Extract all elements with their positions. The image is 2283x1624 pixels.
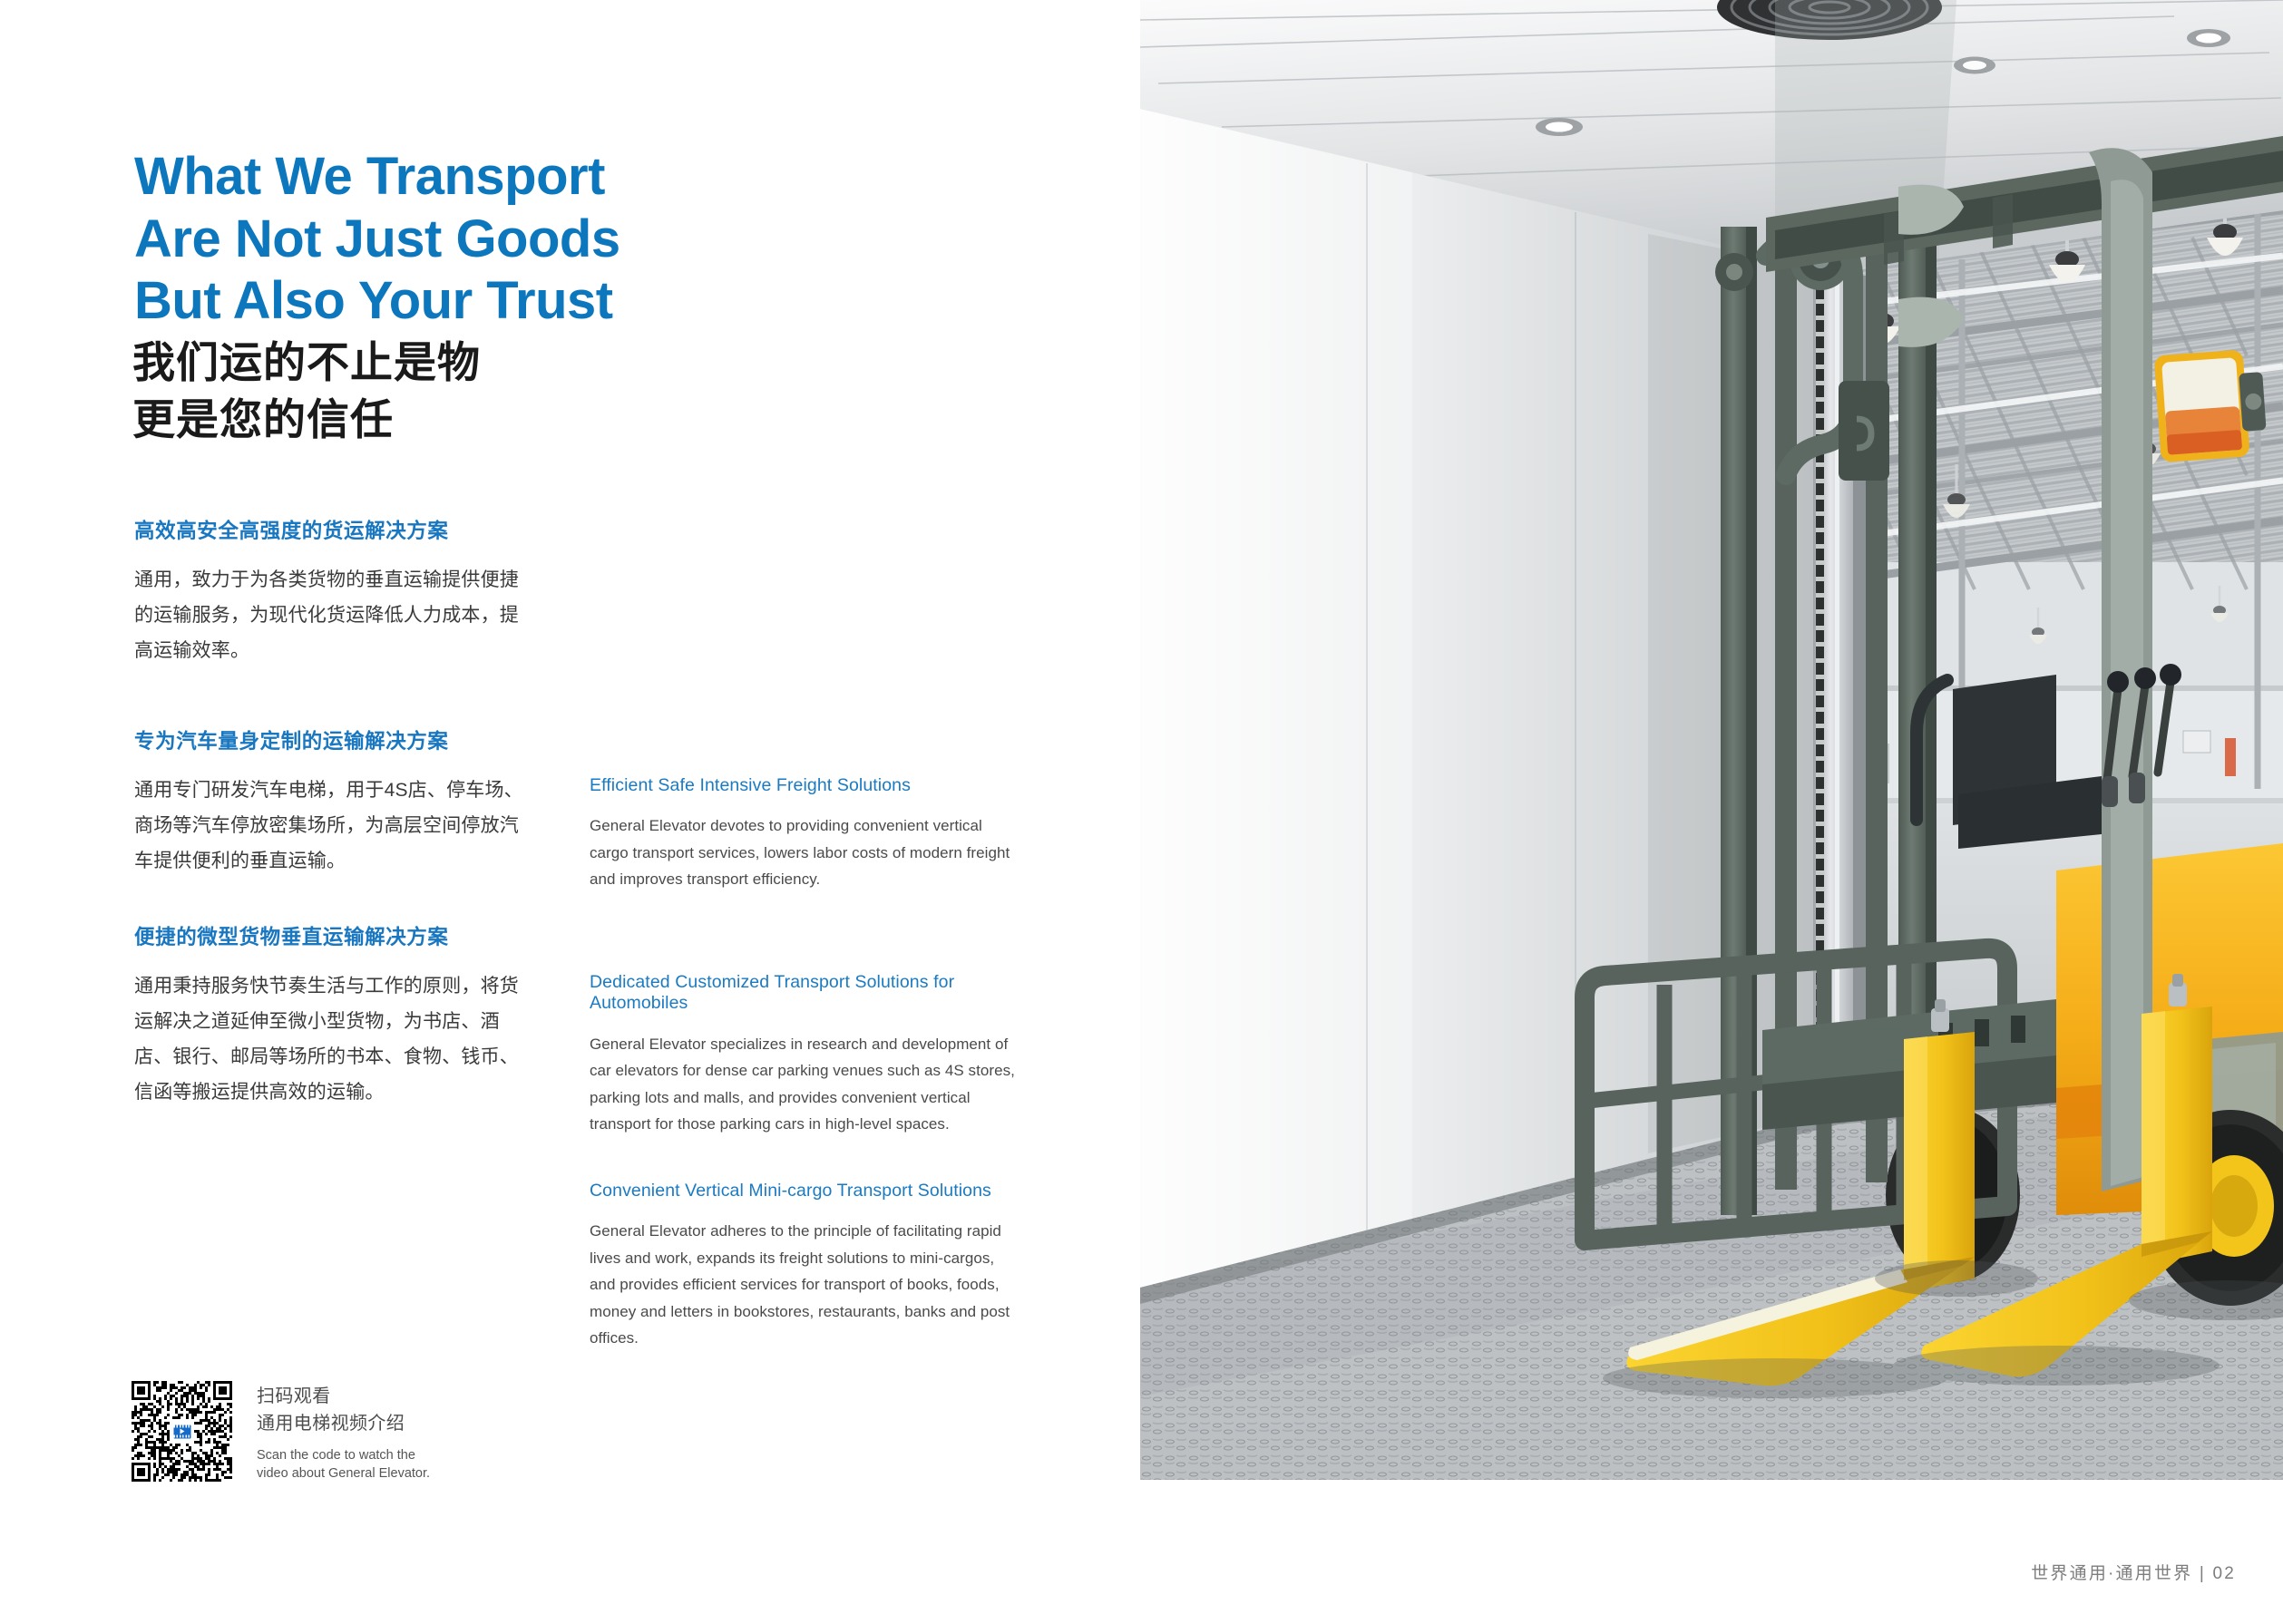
section-heading-english: Efficient Safe Intensive Freight Solutio… bbox=[590, 775, 1025, 796]
page-headline-chinese: 我们运的不止是物 更是您的信任 bbox=[132, 335, 481, 448]
section-heading-chinese: 便捷的微型货物垂直运输解决方案 bbox=[134, 925, 561, 949]
left-text-page: What We Transport Are Not Just Goods But… bbox=[0, 0, 1140, 1624]
section-english-freight: Efficient Safe Intensive Freight Solutio… bbox=[590, 775, 1025, 893]
section-heading-english: Dedicated Customized Transport Solutions… bbox=[590, 972, 1025, 1015]
video-play-icon bbox=[171, 1420, 193, 1443]
qr-caption-chinese: 扫码观看 通用电梯视频介绍 bbox=[257, 1383, 430, 1438]
section-english-minicargo: Convenient Vertical Mini-cargo Transport… bbox=[590, 1181, 1025, 1351]
section-heading-chinese: 高效高安全高强度的货运解决方案 bbox=[134, 519, 561, 543]
section-body-chinese: 通用秉持服务快节奏生活与工作的原则，将货运解决之道延伸至微小型货物，为书店、酒店… bbox=[134, 968, 538, 1110]
section-body-english: General Elevator devotes to providing co… bbox=[590, 812, 1016, 892]
section-body-english: General Elevator specializes in research… bbox=[590, 1031, 1016, 1138]
section-body-chinese: 通用，致力于为各类货物的垂直运输提供便捷的运输服务，为现代化货运降低人力成本，提… bbox=[134, 562, 538, 668]
qr-caption: 扫码观看 通用电梯视频介绍 Scan the code to watch the… bbox=[257, 1381, 430, 1483]
section-heading-chinese: 专为汽车量身定制的运输解决方案 bbox=[134, 729, 561, 754]
section-english-automobile: Dedicated Customized Transport Solutions… bbox=[590, 972, 1025, 1137]
section-body-chinese: 通用专门研发汽车电梯，用于4S店、停车场、商场等汽车停放密集场所，为高层空间停放… bbox=[134, 773, 538, 879]
page-headline-english: What We Transport Are Not Just Goods But… bbox=[134, 146, 620, 333]
section-body-english: General Elevator adheres to the principl… bbox=[590, 1218, 1016, 1351]
forklift-in-freight-elevator-photo bbox=[1140, 0, 2283, 1480]
qr-caption-english: Scan the code to watch the video about G… bbox=[257, 1446, 430, 1483]
photo-illustration bbox=[1140, 0, 2283, 1480]
section-chinese-freight: 高效高安全高强度的货运解决方案 通用，致力于为各类货物的垂直运输提供便捷的运输服… bbox=[134, 519, 561, 668]
section-heading-english: Convenient Vertical Mini-cargo Transport… bbox=[590, 1181, 1025, 1201]
qr-code-icon[interactable] bbox=[132, 1381, 232, 1482]
section-chinese-automobile: 专为汽车量身定制的运输解决方案 通用专门研发汽车电梯，用于4S店、停车场、商场等… bbox=[134, 729, 561, 879]
qr-scan-block: 扫码观看 通用电梯视频介绍 Scan the code to watch the… bbox=[132, 1381, 430, 1483]
page-footer: 世界通用·通用世界 | 02 bbox=[2031, 1560, 2236, 1584]
section-chinese-minicargo: 便捷的微型货物垂直运输解决方案 通用秉持服务快节奏生活与工作的原则，将货运解决之… bbox=[134, 925, 561, 1110]
